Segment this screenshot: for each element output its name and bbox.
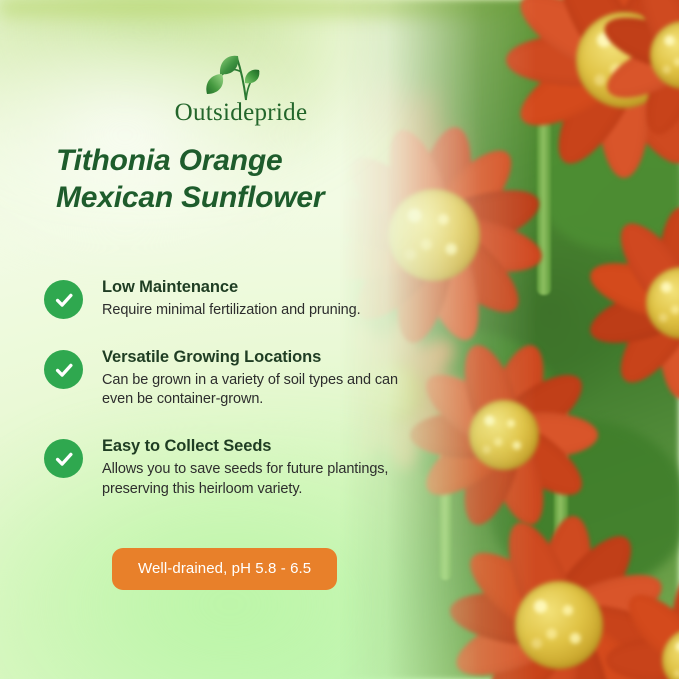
flower-bloom bbox=[594, 560, 679, 679]
flower-bloom bbox=[589, 0, 679, 150]
plant-leaf-icon bbox=[146, 44, 336, 102]
check-circle-icon bbox=[44, 350, 83, 389]
feature-title: Versatile Growing Locations bbox=[102, 348, 424, 368]
check-circle-icon bbox=[44, 280, 83, 319]
page-title: Tithonia Orange Mexican Sunflower bbox=[56, 143, 436, 217]
list-item: Low Maintenance Require minimal fertiliz… bbox=[44, 278, 424, 320]
brand-logo[interactable]: Outsidepride bbox=[146, 44, 336, 136]
feature-description: Require minimal fertilization and prunin… bbox=[102, 301, 424, 320]
flower-center bbox=[469, 400, 539, 470]
flower-center bbox=[515, 581, 603, 669]
page-title-line-1: Tithonia Orange bbox=[56, 143, 436, 180]
brand-name: Outsidepride bbox=[146, 100, 336, 125]
feature-list: Low Maintenance Require minimal fertiliz… bbox=[44, 278, 424, 527]
feature-title: Low Maintenance bbox=[102, 278, 424, 298]
soil-requirement-badge: Well-drained, pH 5.8 - 6.5 bbox=[112, 548, 337, 590]
list-item: Versatile Growing Locations Can be grown… bbox=[44, 348, 424, 409]
check-circle-icon bbox=[44, 439, 83, 478]
feature-title: Easy to Collect Seeds bbox=[102, 437, 424, 457]
product-infographic: Outsidepride Tithonia Orange Mexican Sun… bbox=[0, 0, 679, 679]
list-item: Easy to Collect Seeds Allows you to save… bbox=[44, 437, 424, 498]
page-title-line-2: Mexican Sunflower bbox=[56, 180, 436, 217]
feature-description: Can be grown in a variety of soil types … bbox=[102, 371, 424, 410]
feature-description: Allows you to save seeds for future plan… bbox=[102, 460, 424, 499]
